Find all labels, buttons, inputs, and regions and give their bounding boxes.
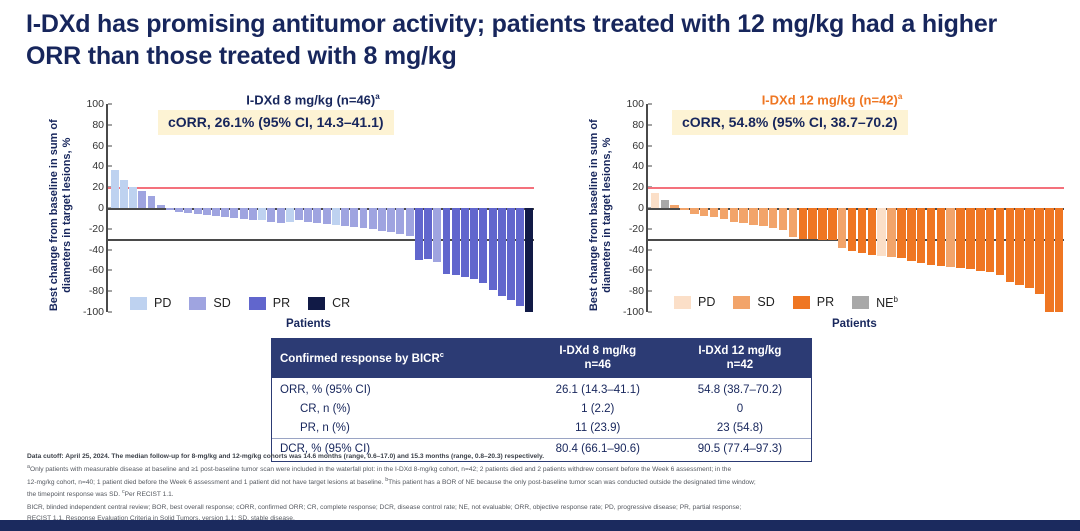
bar-column xyxy=(975,104,985,312)
bar-column xyxy=(350,104,359,312)
table-cell-12mgkg: 0 xyxy=(669,400,811,419)
legend-label-pd: PD xyxy=(154,296,171,310)
bar-column xyxy=(442,104,451,312)
response-summary-table: Confirmed response by BICRc I-DXd 8 mg/k… xyxy=(271,338,812,462)
table-header-response-sup: c xyxy=(440,350,444,359)
bar-SD xyxy=(277,208,285,223)
page-title: I-DXd has promising antitumor activity; … xyxy=(26,8,1046,72)
y-tick--40: -40 xyxy=(70,244,104,256)
y-tick--80: -80 xyxy=(70,285,104,297)
bar-column xyxy=(156,104,165,312)
bar-column xyxy=(670,104,680,312)
bar-PR xyxy=(937,208,945,266)
legend-label-ne: NEb xyxy=(876,295,898,310)
bar-SD xyxy=(212,208,220,216)
bar-column xyxy=(128,104,137,312)
bar-PR xyxy=(1006,208,1014,282)
bar-column xyxy=(956,104,966,312)
bar-SD xyxy=(360,208,368,228)
bar-column xyxy=(985,104,995,312)
table-cell-label: PR, n (%) xyxy=(272,419,527,438)
bar-PR xyxy=(452,208,460,275)
bar-column xyxy=(926,104,936,312)
y-tick-0: 0 xyxy=(610,202,644,214)
x-axis-label-8mgkg: Patients xyxy=(286,318,331,330)
y-tick-20: 20 xyxy=(610,181,644,193)
bar-PR xyxy=(858,208,866,253)
table-header-row: Confirmed response by BICRc I-DXd 8 mg/k… xyxy=(272,339,811,378)
table-cell-8mgkg: 26.1 (14.3–41.1) xyxy=(527,378,669,400)
panel-title-footnote-marker: a xyxy=(375,92,379,101)
bar-column xyxy=(276,104,285,312)
bar-PR xyxy=(828,208,836,240)
y-tick--80: -80 xyxy=(610,285,644,297)
bar-PR xyxy=(976,208,984,271)
y-tick--100: -100 xyxy=(610,306,644,318)
bar-column xyxy=(867,104,877,312)
y-tick-0: 0 xyxy=(70,202,104,214)
y-tick--20: -20 xyxy=(70,223,104,235)
bar-PD xyxy=(129,187,137,208)
bar-column xyxy=(1025,104,1035,312)
table-cell-12mgkg: 23 (54.8) xyxy=(669,419,811,438)
legend-12mgkg: PDSDPRNEb xyxy=(674,295,909,310)
bar-column xyxy=(359,104,368,312)
bar-SD xyxy=(230,208,238,218)
footnote-b: 12-mg/kg cohort, n=40; 1 patient died be… xyxy=(27,476,1057,489)
bar-SD xyxy=(221,208,229,217)
y-tick--20: -20 xyxy=(610,223,644,235)
bar-SD xyxy=(946,208,954,267)
bar-column xyxy=(689,104,699,312)
table-cell-8mgkg: 11 (23.9) xyxy=(527,419,669,438)
legend-swatch-sd xyxy=(733,296,750,309)
bar-column xyxy=(230,104,239,312)
bar-PR xyxy=(1015,208,1023,285)
bar-SD xyxy=(838,208,846,248)
bar-column xyxy=(660,104,670,312)
footnote-c: the timepoint response was SD. cPer RECI… xyxy=(27,488,1057,501)
bar-column xyxy=(1015,104,1025,312)
bar-PR xyxy=(1055,208,1063,312)
bar-PD xyxy=(258,208,266,220)
bar-SD xyxy=(730,208,738,222)
bar-column xyxy=(304,104,313,312)
legend-swatch-ne xyxy=(852,296,869,309)
bar-SD xyxy=(184,208,192,213)
legend-swatch-pd xyxy=(674,296,691,309)
bar-NE xyxy=(661,200,669,208)
bar-column xyxy=(1054,104,1064,312)
bar-column xyxy=(147,104,156,312)
bar-PR xyxy=(808,208,816,239)
bar-PR xyxy=(489,208,497,290)
footnote-abbreviations-1: BICR, blinded independent central review… xyxy=(27,503,1057,514)
bar-column xyxy=(699,104,709,312)
bar-PR xyxy=(868,208,876,255)
bar-column xyxy=(138,104,147,312)
bar-column xyxy=(768,104,778,312)
y-tick--40: -40 xyxy=(610,244,644,256)
legend-label-cr: CR xyxy=(332,296,350,310)
x-axis-label-12mgkg: Patients xyxy=(832,318,877,330)
bar-SD xyxy=(406,208,414,236)
bar-column xyxy=(837,104,847,312)
table-cell-label: ORR, % (95% CI) xyxy=(272,378,527,400)
bar-SD xyxy=(267,208,275,222)
table-row: ORR, % (95% CI)26.1 (14.3–41.1)54.8 (38.… xyxy=(272,378,811,400)
y-tick-40: 40 xyxy=(610,160,644,172)
footnote-b-text: This patient has a BOR of NE because the… xyxy=(388,479,756,486)
table-header-12mgkg-text: I-DXd 12 mg/kg xyxy=(698,345,781,357)
footnote-c-text: Per RECIST 1.1. xyxy=(125,492,174,499)
bar-SD xyxy=(323,208,331,224)
table-header-12mgkg: I-DXd 12 mg/kgn=42 xyxy=(669,339,811,378)
bar-SD xyxy=(295,208,303,220)
bar-column xyxy=(110,104,119,312)
legend-footnote-marker: b xyxy=(894,295,898,304)
bar-column xyxy=(460,104,469,312)
bar-column xyxy=(423,104,432,312)
bar-column xyxy=(739,104,749,312)
bar-SD xyxy=(313,208,321,223)
bar-column xyxy=(221,104,230,312)
bar-SD xyxy=(148,196,156,208)
bar-PR xyxy=(897,208,905,258)
bar-SD xyxy=(720,208,728,219)
bar-column xyxy=(294,104,303,312)
bar-PR xyxy=(986,208,994,272)
bar-column xyxy=(808,104,818,312)
bar-column xyxy=(479,104,488,312)
bar-column xyxy=(788,104,798,312)
legend-label-sd: SD xyxy=(757,295,774,309)
bar-column xyxy=(322,104,331,312)
bar-PR xyxy=(996,208,1004,275)
y-tick-100: 100 xyxy=(610,98,644,110)
bar-column xyxy=(470,104,479,312)
bar-PR xyxy=(443,208,451,274)
bar-PR xyxy=(498,208,506,296)
bar-PR xyxy=(479,208,487,283)
bar-PD xyxy=(120,180,128,208)
bar-PR xyxy=(927,208,935,265)
bar-column xyxy=(175,104,184,312)
bar-column xyxy=(377,104,386,312)
y-tick-40: 40 xyxy=(70,160,104,172)
bar-column xyxy=(798,104,808,312)
y-tick-60: 60 xyxy=(70,140,104,152)
table-header-8mgkg: I-DXd 8 mg/kgn=46 xyxy=(527,339,669,378)
table-header-8mgkg-text: I-DXd 8 mg/kg xyxy=(559,345,636,357)
bar-column xyxy=(516,104,525,312)
bar-PR xyxy=(1025,208,1033,288)
bar-SD xyxy=(433,208,441,262)
footnote-a: aOnly patients with measurable disease a… xyxy=(27,463,1057,476)
bar-SD xyxy=(350,208,358,227)
bar-column xyxy=(165,104,174,312)
bar-column xyxy=(1035,104,1045,312)
bar-column xyxy=(749,104,759,312)
table-row: PR, n (%)11 (23.9)23 (54.8) xyxy=(272,419,811,438)
bar-column xyxy=(966,104,976,312)
bar-column xyxy=(650,104,660,312)
bar-SD xyxy=(700,208,708,216)
bar-SD xyxy=(194,208,202,214)
bar-column xyxy=(387,104,396,312)
bar-PR xyxy=(507,208,515,300)
bar-PR xyxy=(917,208,925,263)
bar-SD xyxy=(304,208,312,222)
bar-SD xyxy=(387,208,395,232)
bottom-accent-bar xyxy=(0,520,1080,531)
bar-CR xyxy=(525,208,533,312)
bar-series-8mgkg xyxy=(110,104,534,312)
bar-PD xyxy=(286,208,294,222)
bar-SD xyxy=(378,208,386,231)
bar-column xyxy=(267,104,276,312)
bar-SD xyxy=(203,208,211,215)
bar-PD xyxy=(651,193,659,208)
bar-SD xyxy=(769,208,777,228)
footnotes: Data cutoff: April 25, 2024. The median … xyxy=(27,452,1057,525)
bar-SD xyxy=(887,208,895,257)
table-body: ORR, % (95% CI)26.1 (14.3–41.1)54.8 (38.… xyxy=(272,378,811,461)
legend-label-sd: SD xyxy=(213,296,230,310)
bar-column xyxy=(202,104,211,312)
bar-SD xyxy=(739,208,747,223)
bar-column xyxy=(758,104,768,312)
plot-area-8mgkg: 100806040200-20-40-60-80-100 xyxy=(106,104,534,312)
bar-SD xyxy=(249,208,257,220)
legend-8mgkg: PDSDPRCR xyxy=(130,296,361,310)
y-tick--100: -100 xyxy=(70,306,104,318)
bar-PR xyxy=(818,208,826,240)
footnote-a-text: Only patients with measurable disease at… xyxy=(30,466,731,473)
bar-column xyxy=(906,104,916,312)
bar-PR xyxy=(799,208,807,239)
bar-column xyxy=(414,104,423,312)
bar-SD xyxy=(680,208,688,210)
waterfall-panel-8mgkg: I-DXd 8 mg/kg (n=46)a cORR, 26.1% (95% C… xyxy=(18,92,538,332)
legend-swatch-cr xyxy=(308,297,325,310)
bar-column xyxy=(827,104,837,312)
bar-column xyxy=(995,104,1005,312)
bar-SD xyxy=(138,191,146,208)
bar-SD xyxy=(157,205,165,208)
slide-root: I-DXd has promising antitumor activity; … xyxy=(0,0,1080,531)
bar-column xyxy=(506,104,515,312)
bar-PR xyxy=(956,208,964,268)
legend-label-pr: PR xyxy=(817,295,834,309)
legend-swatch-sd xyxy=(189,297,206,310)
bar-PD xyxy=(877,208,885,256)
legend-label-pr: PR xyxy=(273,296,290,310)
bar-SD xyxy=(749,208,757,225)
bar-column xyxy=(1044,104,1054,312)
table-row: CR, n (%)1 (2.2)0 xyxy=(272,400,811,419)
bar-column xyxy=(258,104,267,312)
legend-swatch-pr xyxy=(249,297,266,310)
bar-SD xyxy=(396,208,404,234)
table-header-response: Confirmed response by BICRc xyxy=(272,339,527,378)
bar-column xyxy=(488,104,497,312)
footnote-data-cutoff: Data cutoff: April 25, 2024. The median … xyxy=(27,452,1057,463)
bar-PD xyxy=(332,208,340,225)
bar-column xyxy=(1005,104,1015,312)
bar-column xyxy=(451,104,460,312)
bar-PR xyxy=(470,208,478,279)
bar-column xyxy=(497,104,506,312)
bar-SD xyxy=(779,208,787,230)
bar-PR xyxy=(966,208,974,269)
y-tick-100: 100 xyxy=(70,98,104,110)
bar-PD xyxy=(111,170,119,208)
plot-area-12mgkg: 100806040200-20-40-60-80-100 xyxy=(646,104,1064,312)
bar-column xyxy=(896,104,906,312)
bar-PR xyxy=(907,208,915,261)
bar-column xyxy=(193,104,202,312)
bar-column xyxy=(285,104,294,312)
bar-column xyxy=(405,104,414,312)
bar-SD xyxy=(240,208,248,219)
bar-column xyxy=(340,104,349,312)
bar-column xyxy=(936,104,946,312)
legend-swatch-pd xyxy=(130,297,147,310)
bar-column xyxy=(719,104,729,312)
bar-column xyxy=(916,104,926,312)
bar-PR xyxy=(1045,208,1053,312)
table-cell-8mgkg: 1 (2.2) xyxy=(527,400,669,419)
bar-SD xyxy=(175,208,183,212)
bar-column xyxy=(680,104,690,312)
bar-PR xyxy=(516,208,524,306)
bar-column xyxy=(857,104,867,312)
y-tick-20: 20 xyxy=(70,181,104,193)
bar-PR xyxy=(424,208,432,259)
y-tick-80: 80 xyxy=(70,119,104,131)
table-header-response-text: Confirmed response by BICR xyxy=(280,353,440,365)
bar-SD xyxy=(759,208,767,226)
bar-SD xyxy=(341,208,349,226)
bar-column xyxy=(778,104,788,312)
y-tick--60: -60 xyxy=(610,264,644,276)
bar-series-12mgkg xyxy=(650,104,1064,312)
bar-column xyxy=(847,104,857,312)
bar-column xyxy=(313,104,322,312)
bar-SD xyxy=(369,208,377,229)
bar-SD xyxy=(789,208,797,237)
bar-column xyxy=(877,104,887,312)
bar-SD xyxy=(670,205,678,208)
bar-PR xyxy=(848,208,856,251)
bar-column xyxy=(119,104,128,312)
legend-swatch-pr xyxy=(793,296,810,309)
bar-PR xyxy=(1035,208,1043,294)
y-tick--60: -60 xyxy=(70,264,104,276)
bar-column xyxy=(887,104,897,312)
bar-column xyxy=(248,104,257,312)
y-tick-80: 80 xyxy=(610,119,644,131)
bar-column xyxy=(729,104,739,312)
panel-title-footnote-marker: a xyxy=(898,92,902,101)
bar-column xyxy=(239,104,248,312)
table-header-12mgkg-n: n=42 xyxy=(727,359,754,371)
legend-label-pd: PD xyxy=(698,295,715,309)
bar-SD xyxy=(166,208,174,210)
bar-PR xyxy=(461,208,469,277)
bar-column xyxy=(331,104,340,312)
bar-column xyxy=(184,104,193,312)
table-cell-12mgkg: 54.8 (38.7–70.2) xyxy=(669,378,811,400)
bar-column xyxy=(396,104,405,312)
table-cell-label: CR, n (%) xyxy=(272,400,527,419)
bar-column xyxy=(368,104,377,312)
footnote-a-text-cont: 12-mg/kg cohort, n=40; 1 patient died be… xyxy=(27,479,385,486)
bar-SD xyxy=(710,208,718,217)
bar-column xyxy=(709,104,719,312)
y-tick-60: 60 xyxy=(610,140,644,152)
table-header-8mgkg-n: n=46 xyxy=(585,359,612,371)
bar-column xyxy=(211,104,220,312)
bar-PR xyxy=(415,208,423,260)
waterfall-panel-12mgkg: I-DXd 12 mg/kg (n=42)a cORR, 54.8% (95% … xyxy=(542,92,1072,332)
bar-column xyxy=(818,104,828,312)
footnote-b-text-cont: the timepoint response was SD. xyxy=(27,492,122,499)
bar-column xyxy=(946,104,956,312)
bar-SD xyxy=(690,208,698,214)
bar-column xyxy=(525,104,534,312)
bar-column xyxy=(433,104,442,312)
